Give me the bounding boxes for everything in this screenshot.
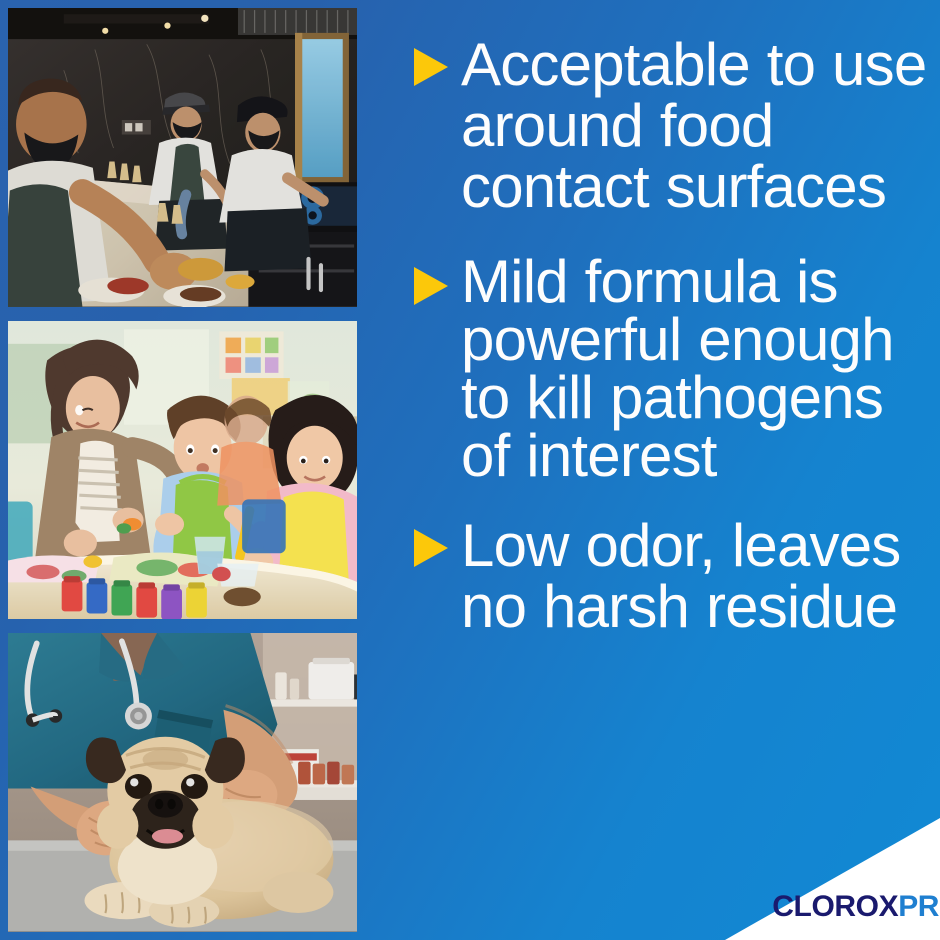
photo-column: Masked chefs working in a commercial res… [8, 8, 357, 932]
photo-kitchen: Masked chefs working in a commercial res… [8, 8, 357, 307]
bullet-item-3: Low odor, leaves no harsh residue [414, 515, 940, 637]
photo-classroom: Teacher and young children doing arts an… [8, 321, 357, 620]
photo-classroom-image [8, 321, 357, 620]
triangle-right-icon [414, 529, 448, 567]
bullet-list: Acceptable to use around food contact su… [414, 0, 940, 940]
promo-poster: Masked chefs working in a commercial res… [0, 0, 940, 940]
cloroxpro-logo: CLOROX PRO [750, 890, 940, 924]
photo-kitchen-image [8, 8, 357, 307]
photo-veterinary-image [8, 633, 357, 932]
bullet-item-1: Acceptable to use around food contact su… [414, 34, 940, 217]
bullet-text-3: Low odor, leaves no harsh residue [461, 515, 940, 637]
photo-veterinary: Veterinarian in teal scrubs with stethos… [8, 633, 357, 932]
logo-pro-text: PRO [898, 890, 940, 924]
triangle-right-icon [414, 48, 448, 86]
bullet-text-1: Acceptable to use around food contact su… [461, 34, 940, 217]
bullet-text-2: Mild formula is powerful enough to kill … [461, 253, 940, 485]
bullet-item-2: Mild formula is powerful enough to kill … [414, 253, 940, 485]
triangle-right-icon [414, 267, 448, 305]
logo-clorox-text: CLOROX [772, 890, 898, 924]
